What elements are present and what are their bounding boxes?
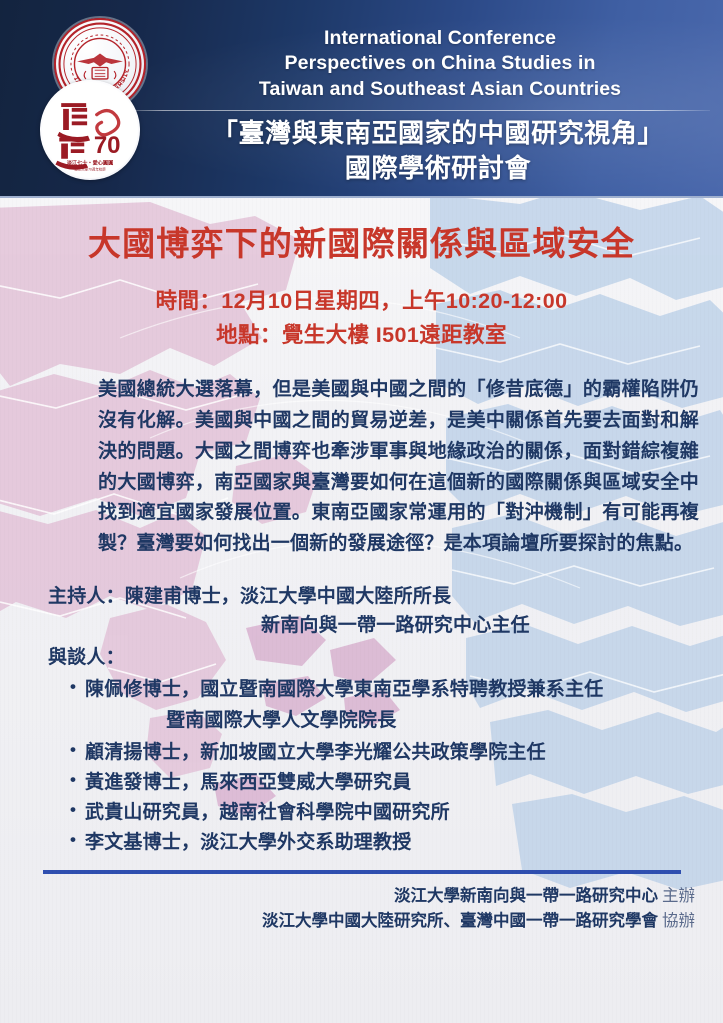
organizer-name: 淡江大學新南向與一帶一路研究中心: [394, 887, 658, 905]
svg-text:70: 70: [94, 132, 121, 159]
list-item: 李文基博士，淡江大學外交系助理教授: [70, 828, 711, 858]
list-item: 武貴山研究員，越南社會科學院中國研究所: [70, 798, 711, 828]
panelists-list: 陳佩修博士，國立暨南國際大學東南亞學系特聘教授兼系主任: [48, 675, 711, 705]
page-title: 大國博弈下的新國際關係與區域安全: [0, 224, 723, 264]
event-details: 時間：12月10日星期四，上午10:20-12:00 地點：覺生大樓 I501遠…: [0, 284, 723, 354]
logo-group: TAMKANG UNIVERSITY: [40, 18, 160, 190]
svg-text:淡江大學70週年校慶: 淡江大學70週年校慶: [74, 166, 106, 171]
organizer-role: 主辦: [662, 887, 695, 905]
list-item: 陳佩修博士，國立暨南國際大學東南亞學系特聘教授兼系主任: [70, 675, 711, 705]
coorganizer-row: 淡江大學中國大陸研究所、臺灣中國一帶一路研究學會協辦: [0, 909, 695, 934]
list-item: 黃進發博士，馬來西亞雙威大學研究員: [70, 768, 711, 798]
tamkang-70th-anniversary-logo-icon: 70 淡江七十・愛心圓圓 淡江大學70週年校慶: [40, 80, 140, 180]
english-title-line-2: Perspectives on China Studies in: [170, 51, 710, 76]
chinese-title-line-1: 「臺灣與東南亞國家的中國研究視角」: [160, 116, 716, 151]
panelist-1-second-title: 暨南國際大學人文學院院長: [48, 706, 711, 736]
list-item: 顧清揚博士，新加坡國立大學李光耀公共政策學院主任: [70, 738, 711, 768]
svg-text:淡江七十・愛心圓圓: 淡江七十・愛心圓圓: [66, 159, 114, 167]
chinese-title-line-2: 國際學術研討會: [160, 151, 716, 186]
chinese-conference-title: 「臺灣與東南亞國家的中國研究視角」 國際學術研討會: [160, 116, 716, 185]
header-divider: [115, 110, 710, 111]
english-conference-title: International Conference Perspectives on…: [170, 26, 710, 102]
event-time: 時間：12月10日星期四，上午10:20-12:00: [0, 284, 723, 319]
conference-poster: TAMKANG UNIVERSITY: [0, 0, 723, 1023]
english-title-line-3: Taiwan and Southeast Asian Countries: [170, 77, 710, 102]
event-location: 地點：覺生大樓 I501遠距教室: [0, 318, 723, 353]
participants-section: 主持人：陳建甫博士，淡江大學中國大陸所所長 新南向與一帶一路研究中心主任 與談人…: [0, 582, 723, 858]
host-line: 主持人：陳建甫博士，淡江大學中國大陸所所長: [48, 582, 711, 611]
abstract-paragraph: 美國總統大選落幕，但是美國與中國之間的「修昔底德」的霸權陷阱仍沒有化解。美國與中…: [0, 375, 723, 560]
poster-body: 大國博弈下的新國際關係與區域安全 時間：12月10日星期四，上午10:20-12…: [0, 198, 723, 1023]
english-title-line-1: International Conference: [170, 26, 710, 51]
panelists-label: 與談人：: [48, 643, 711, 674]
organizer-row: 淡江大學新南向與一帶一路研究中心主辦: [0, 884, 695, 909]
poster-footer: 淡江大學新南向與一帶一路研究中心主辦 淡江大學中國大陸研究所、臺灣中國一帶一路研…: [0, 874, 723, 934]
poster-header: TAMKANG UNIVERSITY: [0, 0, 723, 198]
coorganizer-name: 淡江大學中國大陸研究所、臺灣中國一帶一路研究學會: [262, 912, 658, 930]
panelists-list-continued: 顧清揚博士，新加坡國立大學李光耀公共政策學院主任 黃進發博士，馬來西亞雙威大學研…: [48, 738, 711, 858]
host-second-title: 新南向與一帶一路研究中心主任: [48, 611, 711, 640]
coorganizer-role: 協辦: [662, 912, 695, 930]
